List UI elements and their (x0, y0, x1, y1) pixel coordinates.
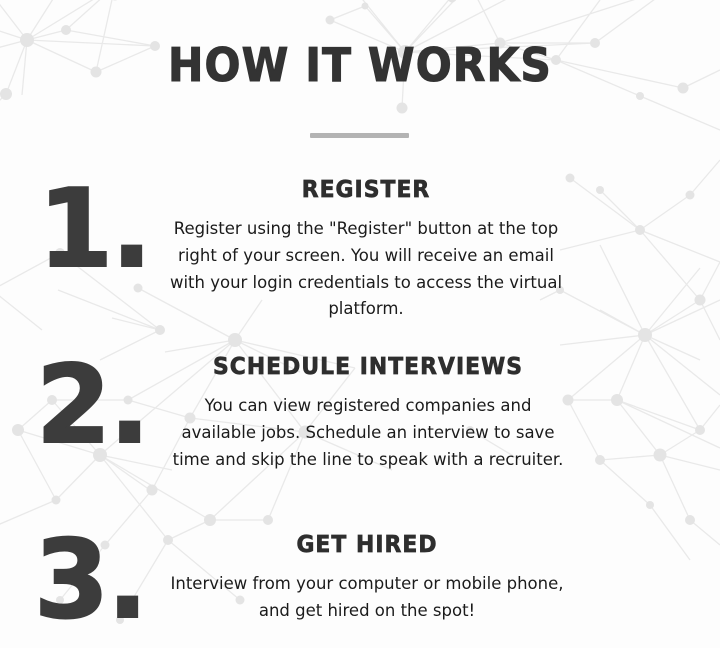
title-divider (310, 133, 409, 138)
step-heading-schedule-interviews: SCHEDULE INTERVIEWS (178, 355, 558, 380)
poster-content: HOW IT WORKS 1. REGISTER Register using … (0, 0, 720, 648)
page-title: HOW IT WORKS (29, 42, 691, 88)
how-it-works-poster: HOW IT WORKS 1. REGISTER Register using … (0, 0, 720, 648)
step-text-get-hired: Interview from your computer or mobile p… (160, 571, 574, 624)
step-heading-get-hired: GET HIRED (170, 533, 563, 558)
step-number-3: 3. (34, 527, 146, 635)
step-body-3: GET HIRED Interview from your computer o… (160, 533, 574, 625)
step-text-schedule-interviews: You can view registered companies and av… (168, 393, 568, 473)
step-body-2: SCHEDULE INTERVIEWS You can view registe… (168, 355, 568, 473)
step-number-1: 1. (38, 176, 150, 284)
step-heading-register: REGISTER (170, 178, 561, 203)
step-number-2: 2. (36, 352, 148, 460)
step-body-1: REGISTER Register using the "Register" b… (160, 178, 572, 323)
step-text-register: Register using the "Register" button at … (160, 216, 572, 323)
